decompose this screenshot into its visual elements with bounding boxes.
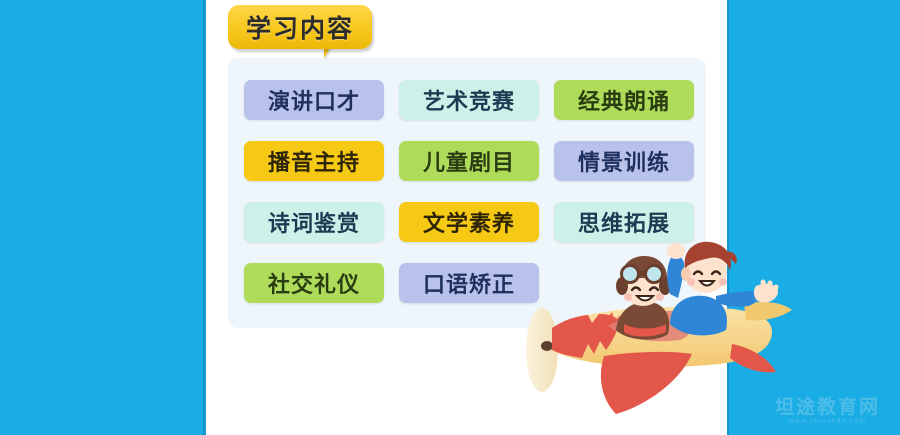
- course-tag[interactable]: 情景训练: [554, 141, 694, 181]
- page-title: 学习内容: [246, 9, 354, 45]
- watermark-en-text: www.tantuedu.com: [760, 418, 895, 425]
- course-tag[interactable]: 社交礼仪: [244, 263, 384, 303]
- course-tag[interactable]: 播音主持: [244, 141, 384, 181]
- course-tag[interactable]: 儿童剧目: [399, 141, 539, 181]
- course-tag[interactable]: 文学素养: [399, 202, 539, 242]
- course-tag[interactable]: 思维拓展: [554, 202, 694, 242]
- page-title-bubble: 学习内容: [228, 5, 372, 49]
- course-tag[interactable]: 演讲口才: [244, 80, 384, 120]
- watermark: 坦途教育网 www.tantuedu.com: [760, 398, 895, 425]
- course-tag[interactable]: 诗词鉴赏: [244, 202, 384, 242]
- watermark-cn-text: 坦途教育网: [760, 398, 895, 418]
- course-tag[interactable]: 经典朗诵: [554, 80, 694, 120]
- screenshot-root: 学习内容 演讲口才 艺术竞赛 经典朗诵 播音主持 儿童剧目 情景训练 诗词鉴赏 …: [0, 0, 900, 435]
- course-tag[interactable]: 口语矫正: [399, 263, 539, 303]
- course-tag[interactable]: 艺术竞赛: [399, 80, 539, 120]
